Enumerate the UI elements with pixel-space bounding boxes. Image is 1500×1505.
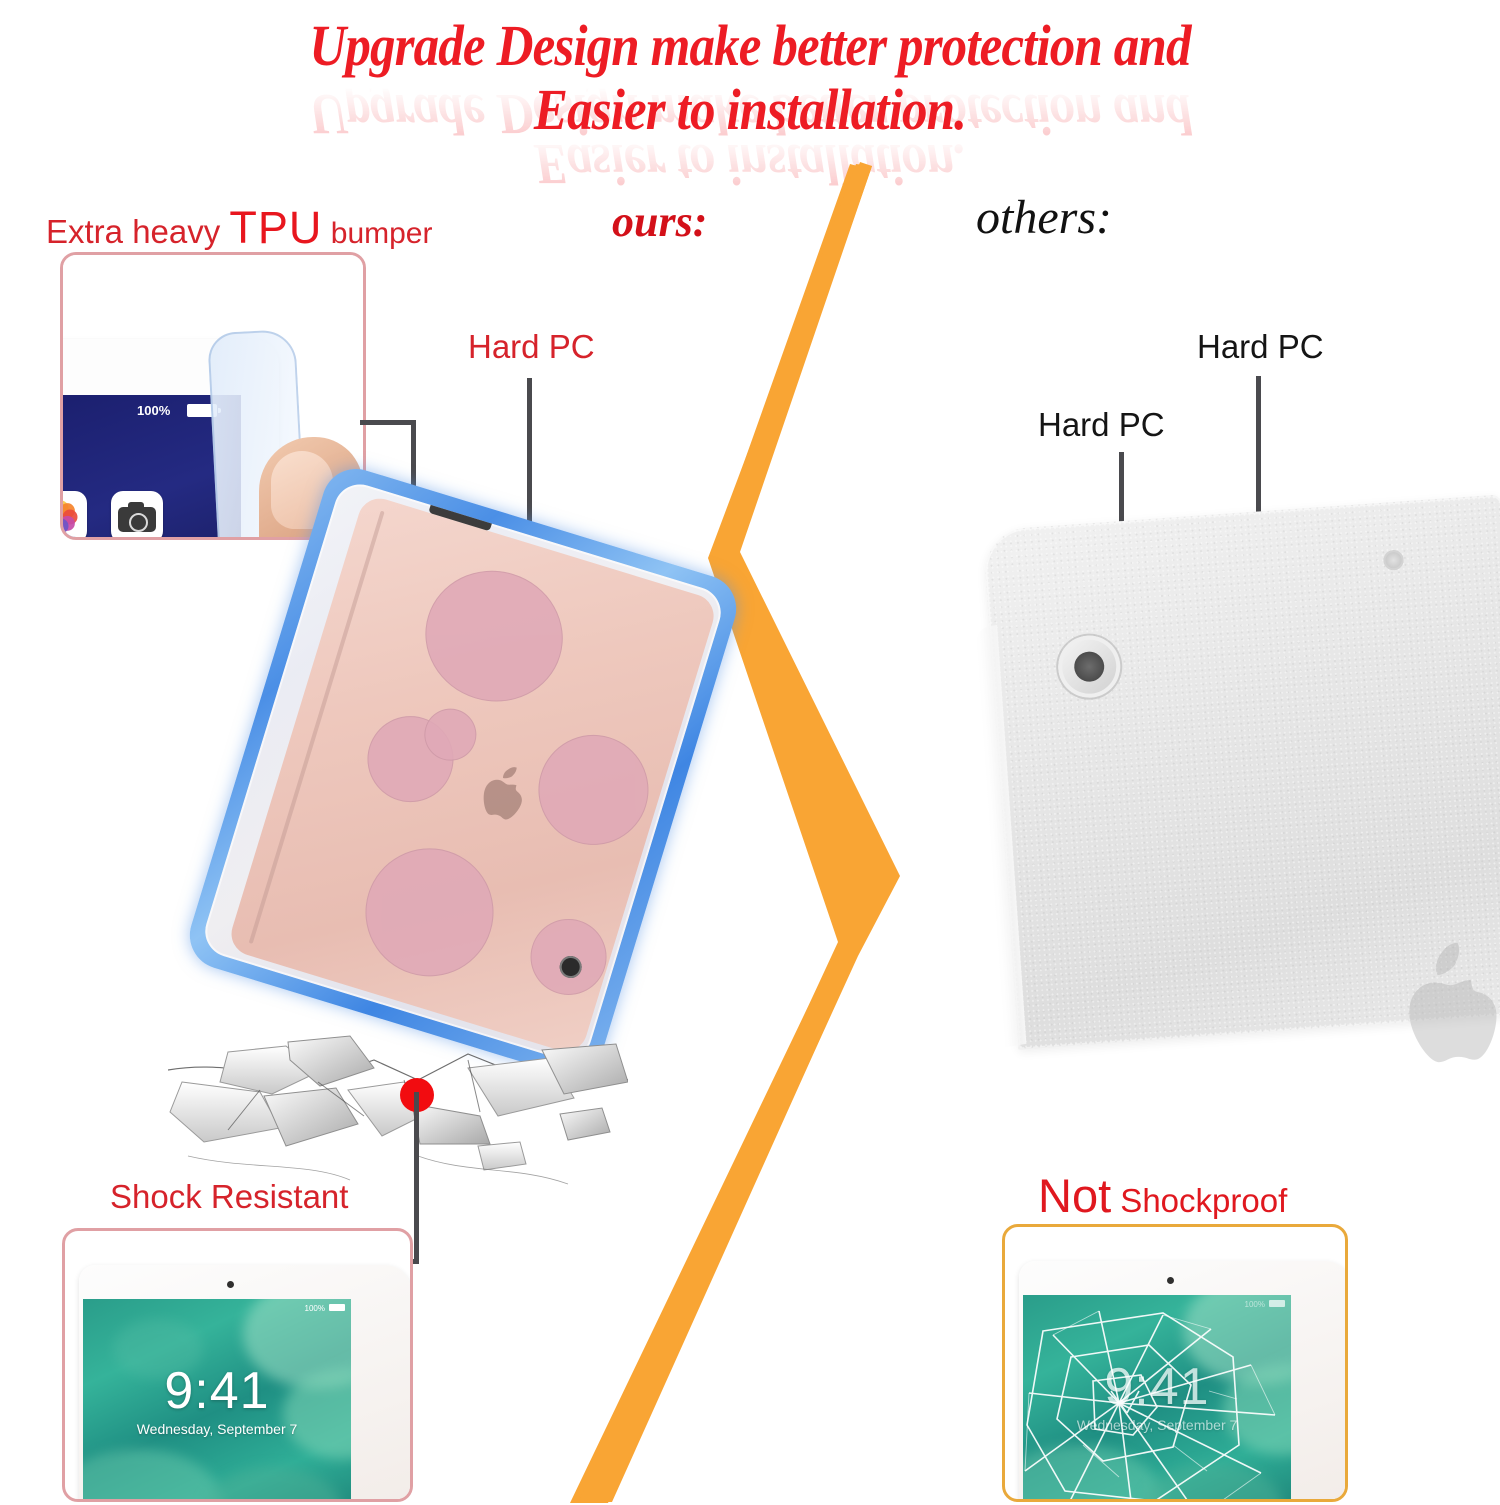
tpu-inset-photo: 100% Photos bbox=[60, 252, 366, 540]
camera-app-icon-group: Camera bbox=[111, 491, 163, 540]
competitor-hard-pc-shell bbox=[982, 494, 1500, 1049]
not-shockproof-label: Not Shockproof bbox=[1038, 1168, 1287, 1223]
hard-pc-ours-label: Hard PC bbox=[468, 328, 595, 366]
tpu-callout-label: Extra heavy TPU bumper bbox=[46, 202, 432, 254]
cracked-ipad-body: 100% 9:41 Wednesday, September 7 bbox=[1019, 1261, 1348, 1502]
cracked-lock-screen: 100% 9:41 Wednesday, September 7 bbox=[1023, 1295, 1291, 1502]
others-heading: others: bbox=[976, 190, 1112, 245]
case-flap-edge bbox=[249, 511, 385, 944]
shock-pad bbox=[409, 554, 579, 719]
lock-screen: 100% 9:41 Wednesday, September 7 bbox=[83, 1299, 351, 1502]
camera-icon bbox=[111, 491, 163, 540]
tpu-leader-horizontal bbox=[360, 420, 416, 425]
shock-pad bbox=[350, 832, 510, 992]
front-camera-icon bbox=[1167, 1277, 1174, 1284]
front-camera-icon bbox=[227, 1281, 234, 1288]
shock-pad bbox=[525, 721, 662, 858]
apple-logo-icon bbox=[1385, 939, 1500, 1085]
tpu-label-suffix: bumper bbox=[322, 217, 432, 250]
hard-pc-other-left-label: Hard PC bbox=[1038, 406, 1165, 444]
hard-pc-other-right-label: Hard PC bbox=[1197, 328, 1324, 366]
shattered-glass-overlay bbox=[1023, 1295, 1291, 1502]
infographic-canvas: Upgrade Design make better protection an… bbox=[0, 0, 1500, 1500]
photos-app-icon-group: Photos bbox=[60, 491, 87, 540]
cracked-screen-inset: 100% 9:41 Wednesday, September 7 bbox=[1002, 1224, 1348, 1502]
lock-date: Wednesday, September 7 bbox=[83, 1421, 351, 1437]
lock-battery-label: 100% bbox=[305, 1304, 325, 1313]
lock-time: 9:41 bbox=[83, 1361, 351, 1421]
tpu-label-prefix: Extra heavy bbox=[46, 213, 229, 250]
tpu-label-emphasis: TPU bbox=[229, 202, 322, 253]
apple-logo-icon bbox=[467, 758, 537, 833]
not-shockproof-emphasis: Not bbox=[1038, 1169, 1111, 1222]
lock-ipad-body: 100% 9:41 Wednesday, September 7 bbox=[79, 1265, 411, 1502]
shock-resistant-label: Shock Resistant bbox=[110, 1178, 348, 1216]
competitor-shell-body bbox=[982, 494, 1500, 1049]
photos-icon bbox=[60, 491, 87, 540]
title-line-1: Upgrade Design make better protection an… bbox=[90, 14, 1410, 78]
not-shockproof-suffix: Shockproof bbox=[1111, 1182, 1287, 1219]
shock-leader-vertical bbox=[414, 1092, 419, 1264]
tpu-battery-label: 100% bbox=[137, 403, 170, 418]
intact-screen-inset: 100% 9:41 Wednesday, September 7 bbox=[62, 1228, 413, 1502]
tpu-inset-art: 100% Photos bbox=[63, 255, 363, 537]
lock-battery-icon bbox=[329, 1304, 345, 1311]
